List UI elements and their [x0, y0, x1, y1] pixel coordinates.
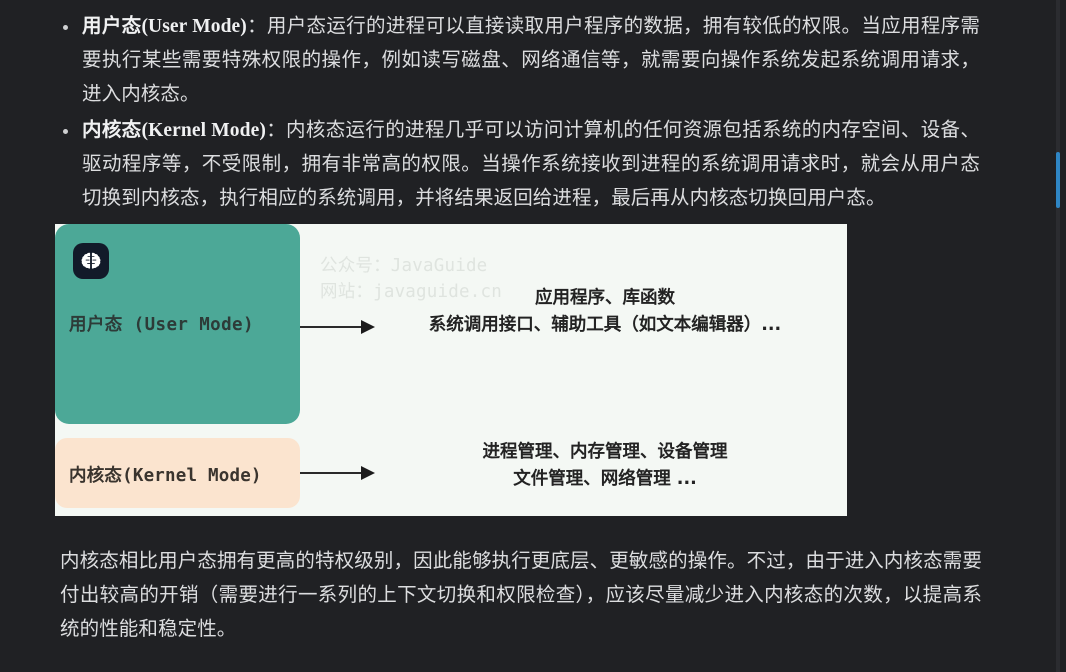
scrollbar-track[interactable]: [1056, 0, 1060, 672]
kernel-mode-box-label: 内核态(Kernel Mode): [69, 462, 262, 487]
user-mode-box-label: 用户态 (User Mode): [69, 311, 254, 336]
article-body: 用户态(User Mode)：用户态运行的进程可以直接读取用户程序的数据，拥有较…: [0, 0, 1040, 216]
closing-paragraph: 内核态相比用户态拥有更高的特权级别，因此能够执行更底层、更敏感的操作。不过，由于…: [60, 545, 982, 647]
kernel-mode-components: 进程管理、内存管理、设备管理 文件管理、网络管理 ...: [410, 439, 800, 493]
page-root: 用户态(User Mode)：用户态运行的进程可以直接读取用户程序的数据，拥有较…: [0, 0, 1066, 672]
kernel-mode-components-line-1: 进程管理、内存管理、设备管理: [410, 439, 800, 466]
scrollbar-thumb[interactable]: [1056, 152, 1060, 208]
watermark-line-2: 网站：javaguide.cn: [320, 279, 502, 305]
user-kernel-mode-diagram: 用户态 (User Mode) 内核态(Kernel Mode) 应用程序、库函…: [55, 224, 847, 516]
kernel-mode-components-line-2: 文件管理、网络管理 ...: [410, 466, 800, 493]
brain-icon: [73, 243, 109, 279]
mode-bullet-list: 用户态(User Mode)：用户态运行的进程可以直接读取用户程序的数据，拥有较…: [60, 10, 980, 216]
bullet-term-user-mode: 用户态(User Mode): [82, 16, 247, 37]
kernel-mode-arrow-icon: [300, 467, 375, 479]
arrow-head: [361, 320, 375, 334]
watermark-line-1: 公众号：JavaGuide: [320, 253, 502, 279]
figure-watermark: 公众号：JavaGuide 网站：javaguide.cn: [320, 253, 502, 305]
list-item: 用户态(User Mode)：用户态运行的进程可以直接读取用户程序的数据，拥有较…: [60, 10, 980, 112]
arrow-head: [361, 466, 375, 480]
user-mode-box: 用户态 (User Mode): [55, 224, 300, 424]
arrow-shaft: [300, 326, 362, 329]
bullet-term-kernel-mode: 内核态(Kernel Mode): [82, 120, 266, 141]
arrow-shaft: [300, 472, 362, 475]
kernel-mode-box: 内核态(Kernel Mode): [55, 438, 300, 508]
list-item: 内核态(Kernel Mode)：内核态运行的进程几乎可以访问计算机的任何资源包…: [60, 114, 980, 216]
user-mode-components-line-2: 系统调用接口、辅助工具（如文本编辑器）...: [395, 312, 815, 339]
user-mode-arrow-icon: [300, 321, 375, 333]
